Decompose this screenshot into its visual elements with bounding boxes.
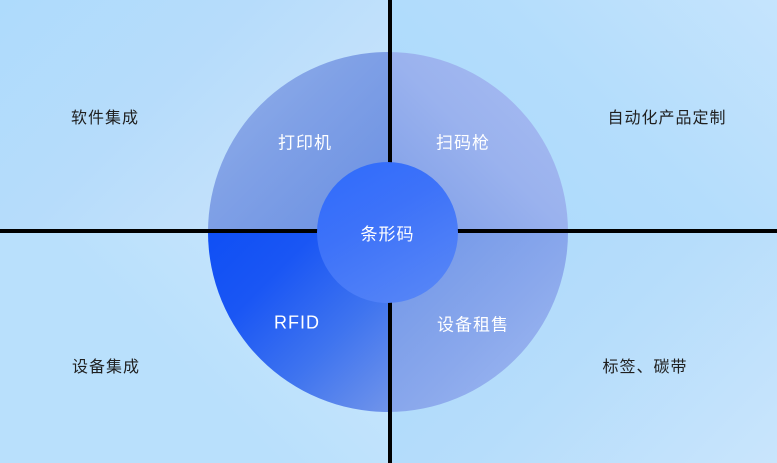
outer-label-equipment-integration: 设备集成	[72, 353, 140, 377]
center-hub-circle[interactable]: 条形码	[317, 162, 458, 303]
ring-label-scanner: 扫码枪	[436, 129, 490, 154]
ring-label-rental: 设备租售	[437, 311, 509, 336]
outer-label-software-integration: 软件集成	[71, 104, 139, 128]
ring-label-printer: 打印机	[278, 129, 332, 154]
outer-label-automation-customization: 自动化产品定制	[607, 104, 726, 128]
ring-label-rfid: RFID	[274, 313, 320, 334]
outer-label-labels-ribbons: 标签、碳带	[602, 353, 687, 377]
center-hub-label: 条形码	[361, 220, 415, 245]
diagram-canvas: 条形码 打印机 扫码枪 RFID 设备租售 软件集成 自动化产品定制 设备集成 …	[0, 0, 777, 463]
